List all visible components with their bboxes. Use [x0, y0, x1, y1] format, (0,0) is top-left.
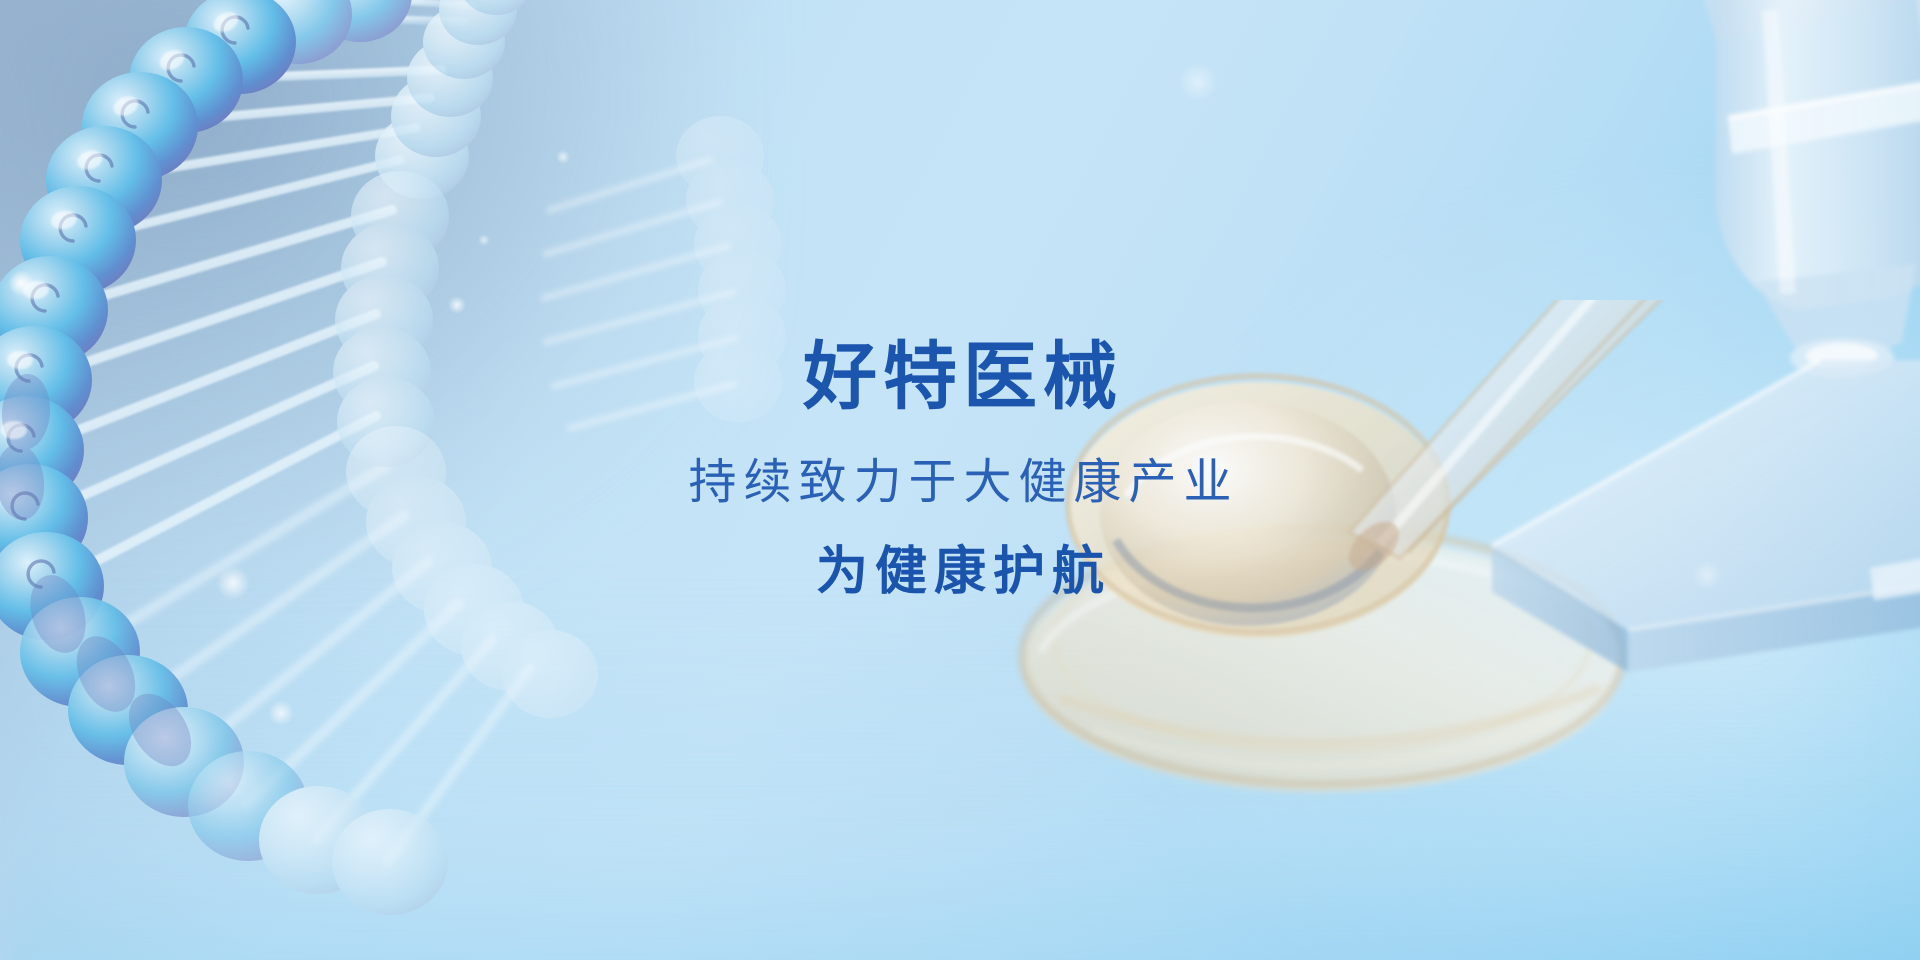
hero-banner: 40 [0, 0, 1920, 960]
page-tagline: 为健康护航 [0, 543, 1920, 603]
hero-headline: 好特医械 持续致力于大健康产业 为健康护航 [0, 336, 1920, 603]
page-title: 好特医械 [0, 336, 1920, 419]
page-subtitle: 持续致力于大健康产业 [0, 455, 1920, 510]
